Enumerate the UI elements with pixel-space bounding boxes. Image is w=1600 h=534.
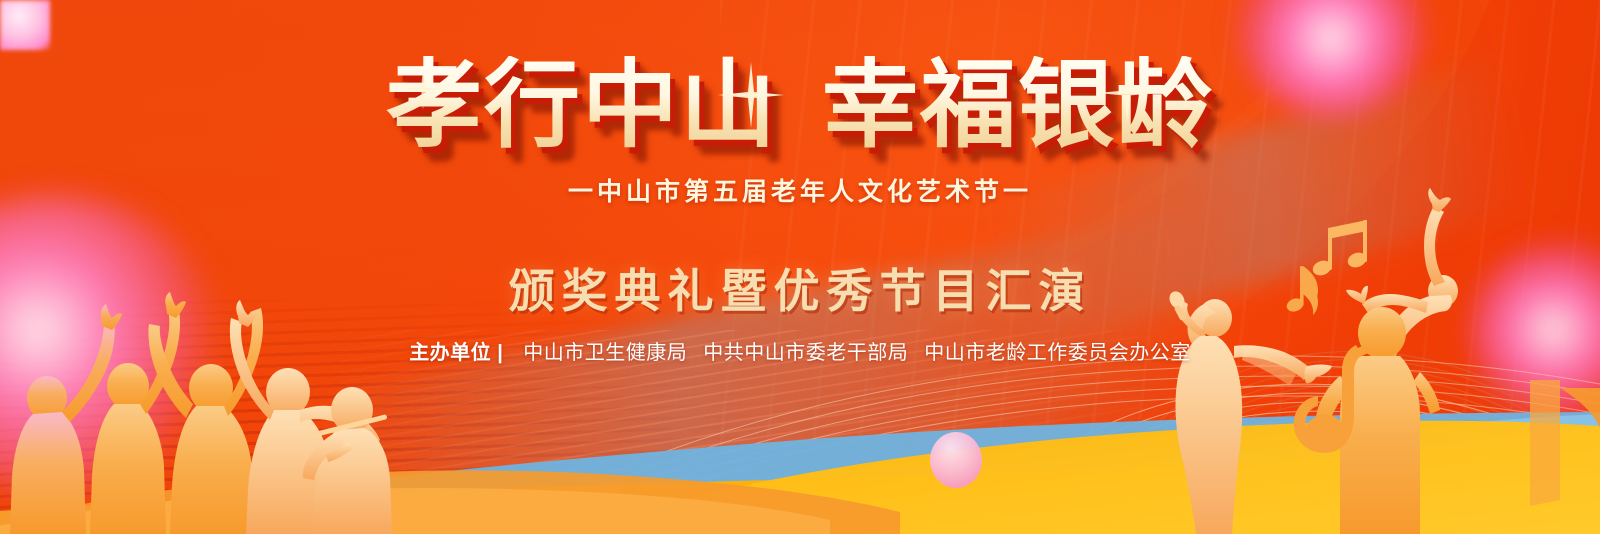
poster-text-content: 孝行中山幸福银龄 一中山市第五届老年人文化艺术节一 颁奖典礼暨优秀节目汇演 主办… (0, 0, 1600, 534)
main-title: 孝行中山幸福银龄 (0, 56, 1600, 157)
main-title-part-2: 幸福银龄 (822, 52, 1214, 159)
organizer-3: 中山市老龄工作委员会办公室 (908, 342, 1191, 364)
organizers-line: 主办单位|中山市卫生健康局中共中山市委老干部局中山市老龄工作委员会办公室 (0, 336, 1600, 365)
organizers-label: 主办单位 (409, 342, 491, 364)
organizer-1: 中山市卫生健康局 (507, 342, 687, 364)
main-title-part-1: 孝行中山 (386, 52, 778, 159)
organizer-2: 中共中山市委老干部局 (687, 342, 908, 364)
event-poster-banner: 孝行中山幸福银龄 一中山市第五届老年人文化艺术节一 颁奖典礼暨优秀节目汇演 主办… (0, 0, 1600, 534)
festival-subtitle: 一中山市第五届老年人文化艺术节一 (0, 172, 1600, 208)
event-title: 颁奖典礼暨优秀节目汇演 (0, 255, 1600, 321)
organizers-separator: | (491, 342, 507, 364)
